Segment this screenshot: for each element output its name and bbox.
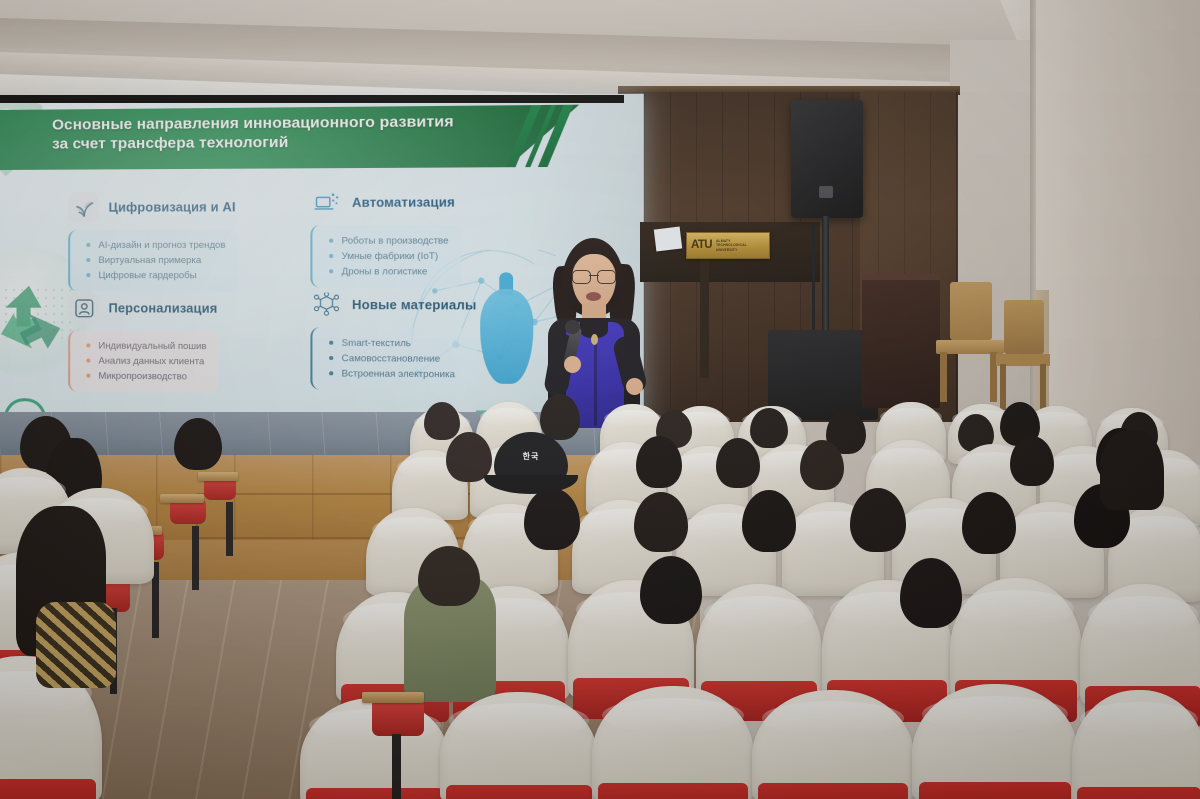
baseball-cap: 한국 bbox=[494, 432, 568, 488]
audience: 한국 bbox=[0, 380, 1200, 799]
audience-head bbox=[174, 418, 222, 470]
recycle-icon bbox=[0, 278, 70, 356]
molecule-icon bbox=[310, 289, 342, 321]
audience-head bbox=[636, 436, 682, 488]
seat-leg bbox=[192, 526, 199, 590]
bullet-item: Роботы в производстве bbox=[329, 232, 449, 248]
slide-title-line2: за счет трансфера технологий bbox=[52, 131, 571, 154]
bullet-item: AI-дизайн и прогноз трендов bbox=[86, 237, 225, 252]
seat bbox=[592, 686, 754, 799]
plaque-line-3: UNIVERSITY bbox=[716, 248, 747, 252]
cap-text: 한국 bbox=[523, 451, 540, 462]
seat bbox=[1072, 690, 1200, 799]
audience-head bbox=[716, 438, 760, 488]
atu-plaque-text: ALMATY TECHNOLOGICAL UNIVERSITY bbox=[716, 239, 747, 252]
paper-sheet bbox=[654, 226, 682, 251]
screen-top-frame bbox=[0, 95, 624, 103]
slide-title: Основные направления инновационного разв… bbox=[52, 111, 571, 155]
audience-head bbox=[742, 490, 796, 552]
audience-head bbox=[750, 408, 788, 448]
section-heading: Автоматизация bbox=[352, 195, 455, 210]
bullet-item: Самовосстановление bbox=[329, 350, 464, 366]
bullet-item: Анализ данных клиента bbox=[86, 353, 206, 369]
atu-plaque: ATU ALMATY TECHNOLOGICAL UNIVERSITY bbox=[686, 232, 770, 259]
seat bbox=[440, 692, 598, 799]
section-heading: Цифровизация и AI bbox=[109, 200, 236, 215]
person-icon bbox=[68, 292, 99, 323]
bullet-item: Индивидуальный пошив bbox=[86, 337, 206, 353]
glasses-icon bbox=[572, 270, 616, 282]
bullet-item: Smart-текстиль bbox=[329, 335, 464, 351]
seat-armrest bbox=[372, 698, 424, 736]
seat bbox=[912, 684, 1078, 799]
bullet-item: Цифровые гардеробы bbox=[86, 268, 225, 284]
slide-section-digitalization: Цифровизация и AI AI-дизайн и прогноз тр… bbox=[68, 191, 238, 307]
seat-leg bbox=[226, 502, 233, 556]
writing-tablet bbox=[160, 494, 204, 503]
necklace bbox=[591, 334, 598, 345]
slide-section-automation: Автоматизация Роботы в производстве Умны… bbox=[310, 186, 461, 304]
pa-speaker-icon bbox=[791, 100, 863, 218]
writing-tablet bbox=[198, 472, 238, 481]
sprout-icon bbox=[68, 192, 99, 223]
section-bullets: AI-дизайн и прогноз трендов Виртуальная … bbox=[68, 230, 238, 292]
podium-post bbox=[700, 258, 709, 378]
bullet-item: Умные фабрики (IoT) bbox=[329, 248, 449, 264]
section-heading: Персонализация bbox=[109, 301, 218, 315]
audience-head bbox=[800, 440, 844, 490]
audience-head bbox=[634, 492, 688, 552]
audience-head bbox=[1100, 430, 1164, 510]
audience-head bbox=[524, 488, 580, 550]
writing-tablet bbox=[362, 692, 424, 703]
atu-logo: ATU bbox=[691, 240, 712, 252]
patterned-scarf bbox=[36, 602, 116, 688]
seat-leg bbox=[392, 734, 401, 799]
audience-head bbox=[1010, 436, 1054, 486]
audience-head bbox=[424, 402, 460, 440]
seat bbox=[696, 584, 822, 702]
audience-head bbox=[962, 492, 1016, 554]
seat bbox=[752, 690, 914, 799]
audience-head bbox=[418, 546, 480, 606]
section-bullets: Роботы в производстве Умные фабрики (IoT… bbox=[310, 225, 461, 287]
bullet-item: Виртуальная примерка bbox=[86, 252, 225, 267]
lecture-hall-photo: Основные направления инновационного разв… bbox=[0, 0, 1200, 799]
bullet-item: Дроны в логистике bbox=[329, 264, 449, 280]
audience-head bbox=[540, 394, 580, 440]
section-heading: Новые материалы bbox=[352, 297, 477, 312]
laptop-icon bbox=[310, 187, 342, 219]
